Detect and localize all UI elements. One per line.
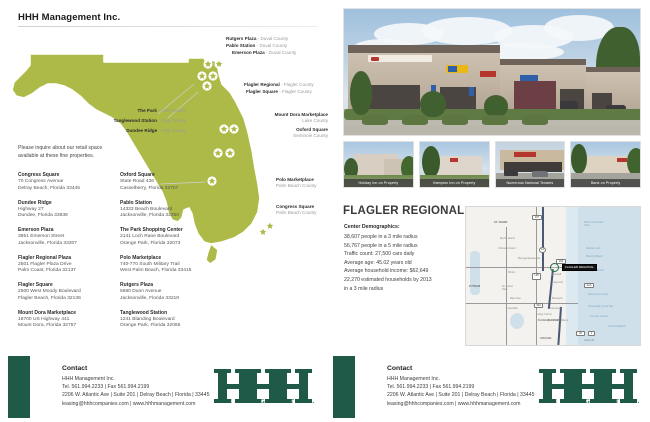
property-address-2: Casselberry, Florida 32707 <box>120 186 318 193</box>
lake-shape <box>510 313 524 329</box>
contact-details: HHH Management Inc. Tel. 561.994.2233 | … <box>387 375 534 408</box>
contact-web[interactable]: leasing@hhhcompanies.com | www.hhhmanage… <box>62 400 209 408</box>
contact-heading: Contact <box>387 365 412 372</box>
green-accent-bar <box>8 356 30 418</box>
pylon-sign <box>469 87 474 96</box>
demographics-heading: Center Demographics: <box>344 224 400 230</box>
logo-wordmark: HHH MANAGEMENT INC. <box>212 398 318 405</box>
map-label-emerson-plaza: Emerson Plaza - Duval County <box>232 50 296 56</box>
shrub <box>420 91 446 117</box>
shrub-front <box>522 115 548 125</box>
locator-map: 207 11 100 A1A I-95 304 40 1 ST. JOHNS P… <box>465 206 641 346</box>
map-label-flagler-square: Flagler Square - Flagler County <box>246 89 312 95</box>
property-list: Congress Square 70 Congress Avenue Delra… <box>18 172 318 337</box>
place-label: Ormond Beach <box>608 325 625 328</box>
palm-tree <box>350 71 372 115</box>
footer: Contact HHH Management Inc. Tel. 561.994… <box>0 352 650 422</box>
property-address-1: 5680 Dunn Avenue <box>120 289 318 296</box>
thumbnail-caption: Holiday Inn on Property <box>344 179 413 187</box>
building-parapet <box>348 45 500 53</box>
feature-title: FLAGLER REGIONAL <box>343 205 464 217</box>
lake-shape <box>470 251 480 295</box>
demographic-line: 22,270 estimated households by 2013 <box>344 276 469 285</box>
place-label: Painters Hill <box>586 247 600 250</box>
property-item: Polo Marketplace 740-770 South Military … <box>120 255 318 275</box>
thumb-tree <box>627 148 641 176</box>
place-label: Claymont <box>552 281 563 284</box>
thumbnail-bank[interactable]: Bank on Property <box>570 141 641 188</box>
tenant-sign-blue-2 <box>520 75 538 81</box>
shrub-front <box>482 115 508 125</box>
property-item: The Park Shopping Center 2141 Loch Rane … <box>120 227 318 247</box>
shrub <box>484 95 508 117</box>
thumbnail-caption: Hampton Inn on Property <box>420 179 489 187</box>
green-accent-bar <box>333 356 355 418</box>
route-shield: 207 <box>532 215 542 220</box>
contact-company: HHH Management Inc. <box>62 375 209 383</box>
property-item: Pablo Station 14333 Beach Boulevard Jack… <box>120 200 318 220</box>
property-item: Oxford Square State Road 436 Casselberry… <box>120 172 318 192</box>
intracoastal <box>566 207 578 346</box>
map-label-mount-dora: Mount Dora MarketplaceLake County <box>256 112 328 124</box>
footer-left: Contact HHH Management Inc. Tel. 561.994… <box>0 352 325 422</box>
contact-phone: Tel. 561.994.2233 | Fax 561.994.2199 <box>62 383 209 391</box>
property-location-marker <box>550 263 559 272</box>
hero-photo-shopping-center <box>343 8 641 136</box>
demographics-list: 38,607 people in a 3 mile radius 56,767 … <box>344 233 469 293</box>
place-label: Favoretta <box>550 307 561 310</box>
demographic-line: 56,767 people in a 5 mile radius <box>344 242 469 251</box>
locator-flag-label: FLAGLER REGIONAL <box>562 264 597 271</box>
property-name: Dundee Ridge <box>18 200 110 207</box>
map-label-oxford-square: Oxford SquareSeminole County <box>256 127 328 139</box>
contact-heading: Contact <box>62 365 87 372</box>
thumb-sign <box>514 152 536 157</box>
property-address-1: 2141 Loch Rane Boulevard <box>120 234 318 241</box>
demographic-line: in a 3 mile radius <box>344 285 469 294</box>
place-label: Tomoka Corner <box>590 315 608 318</box>
place-label: Chimera Island <box>498 247 515 250</box>
property-item: Rutgers Plaza 5680 Dunn Avenue Jacksonvi… <box>120 282 318 302</box>
contact-details: HHH Management Inc. Tel. 561.994.2233 | … <box>62 375 209 408</box>
tenant-sign-logo <box>371 57 379 61</box>
place-label: Beverly Beach <box>586 255 603 258</box>
place-label: Hammock Corner <box>588 293 608 296</box>
logo-wordmark: HHH MANAGEMENT INC. <box>537 398 643 405</box>
contact-address: 2206 W. Atlantic Ave | Suite 201 | Delra… <box>62 391 209 399</box>
property-name: Polo Marketplace <box>120 255 318 262</box>
left-panel: HHH Management Inc. <box>0 0 334 352</box>
property-address-1: 70 Congress Avenue <box>18 179 110 186</box>
contact-company: HHH Management Inc. <box>387 375 534 383</box>
contact-address: 2206 W. Atlantic Ave | Suite 201 | Delra… <box>387 391 534 399</box>
thumb-car <box>532 171 548 177</box>
thumbnail-caption: Bank on Property <box>571 179 640 187</box>
demographic-line: Average age: 45.02 years old <box>344 259 469 268</box>
place-label: Bear Run <box>510 297 521 300</box>
property-address-2: Orange Park, Florida 32065 <box>120 323 318 330</box>
property-address-1: State Road 436 <box>120 179 318 186</box>
property-address-2: Mount Dora, Florida 32757 <box>18 323 110 330</box>
property-address-2: West Palm Beach, Florida 33415 <box>120 268 318 275</box>
property-item: Congress Square 70 Congress Avenue Delra… <box>18 172 110 192</box>
storefront-glass <box>514 81 556 109</box>
route-shield: 304 <box>534 303 543 308</box>
place-label: National Gardens <box>548 319 568 322</box>
property-item: Mount Dora Marketplace 18700 US Highway … <box>18 310 110 330</box>
inquire-text: Please inquire about our retail space av… <box>18 145 158 160</box>
map-label-tanglewood-station: Tanglewood Station - Clay County <box>38 118 186 124</box>
place-label: Oceanside by the Bay <box>588 305 613 308</box>
county-label: ST. JOHNS <box>494 221 507 224</box>
property-item: Tanglewood Station 1241 Blanding Bouleva… <box>120 310 318 330</box>
title-divider <box>18 26 318 27</box>
page-title: HHH Management Inc. <box>18 12 120 23</box>
place-label: Holly Hill <box>584 339 594 342</box>
thumbnail-strip: Holiday Inn on Property Hampton Inn on P… <box>343 141 641 188</box>
thumbnail-national-tenants[interactable]: Numerous National Tenants <box>495 141 566 188</box>
shrub-front <box>402 115 428 125</box>
demographic-line: 38,607 people in a 3 mile radius <box>344 233 469 242</box>
inquire-line-2: available at these fine properties. <box>18 153 158 161</box>
route-shield: I-95 <box>532 273 541 280</box>
property-address-2: Jacksonville, Florida 33207 <box>18 241 110 248</box>
place-label: Codys Corner <box>536 313 552 316</box>
building-parapet <box>586 67 640 72</box>
thumbnail-caption: Numerous National Tenants <box>496 179 565 187</box>
property-item: Flagler Regional Plaza 2501 Flagler Plaz… <box>18 255 110 275</box>
place-label: Myrtle Island <box>500 237 515 240</box>
contact-web[interactable]: leasing@hhhcompanies.com | www.hhhmanage… <box>387 400 534 408</box>
map-label-dundee-ridge: Dundee Ridge - Polk County <box>38 128 186 134</box>
thumbnail-hampton-inn[interactable]: Hampton Inn on Property <box>419 141 490 188</box>
tenant-sign-red <box>480 71 496 77</box>
thumb-tree <box>422 146 440 178</box>
thumb-car <box>504 170 518 176</box>
map-label-pablo-station: Pablo Station - Duval County <box>226 43 287 49</box>
map-label-the-park: The Park - Clay County <box>38 108 186 114</box>
property-address-1: 3851 Emerson Street <box>18 234 110 241</box>
building-parapet <box>500 59 586 65</box>
route-shield: 40 <box>576 331 585 336</box>
map-label-flagler-regional: Flagler Regional - Flagler County <box>244 82 314 88</box>
place-label: Roswell <box>552 273 561 276</box>
property-item: Dundee Ridge Highway 27 Dundee, Florida … <box>18 200 110 220</box>
road-line <box>466 303 578 304</box>
property-item: Flagler Square 2500 West Moody Boulevard… <box>18 282 110 302</box>
contact-phone: Tel. 561.994.2233 | Fax 561.994.2199 <box>387 383 534 391</box>
property-column-2: Oxford Square State Road 436 Casselberry… <box>120 172 318 337</box>
property-address-1: 2500 West Moody Boulevard <box>18 289 110 296</box>
place-label: Bunnerra <box>552 297 563 300</box>
storefront-glass <box>364 85 420 111</box>
property-address-2: Jacksonville, Florida 33218 <box>120 296 318 303</box>
footer-right: Contact HHH Management Inc. Tel. 561.994… <box>325 352 650 422</box>
property-address-2: Delray Beach, Florida 33445 <box>18 186 110 193</box>
property-name: Flagler Regional Plaza <box>18 255 110 262</box>
property-name: Mount Dora Marketplace <box>18 310 110 317</box>
county-label: VOLUSIA <box>540 337 552 340</box>
map-label-rutgers-plaza: Rutgers Plaza - Duval County <box>226 36 288 42</box>
property-address-2: Dundee, Florida 33838 <box>18 213 110 220</box>
shrub-front <box>362 115 388 125</box>
property-name: Congress Square <box>18 172 110 179</box>
thumb-sign <box>617 158 627 162</box>
place-label: Bunnga Esplanada <box>518 257 540 260</box>
route-shield: 11 <box>539 247 546 253</box>
place-label: St. Johns Park <box>502 285 516 291</box>
property-item: Emerson Plaza 3851 Emerson Street Jackso… <box>18 227 110 247</box>
property-address-2: Jacksonville, Florida 32250 <box>120 213 318 220</box>
property-address-2: Orange Park, Florida 32073 <box>120 241 318 248</box>
demographic-line: Traffic count: 27,500 cars daily <box>344 250 469 259</box>
interstate-95 <box>542 207 544 271</box>
brochure-page: HHH Management Inc. <box>0 0 650 422</box>
property-name: Pablo Station <box>120 200 318 207</box>
inquire-line-1: Please inquire about our retail space <box>18 145 158 153</box>
thumbnail-holiday-inn[interactable]: Holiday Inn on Property <box>343 141 414 188</box>
place-label: Palm Coast Park Town <box>584 221 608 227</box>
place-label: Bimini <box>508 271 515 274</box>
property-column-1: Congress Square 70 Congress Avenue Delra… <box>18 172 110 337</box>
property-name: Tanglewood Station <box>120 310 318 317</box>
county-label: PUTNAM <box>469 285 480 288</box>
property-address-2: Palm Coast, Florida 32137 <box>18 268 110 275</box>
tenant-sign-blue <box>448 66 457 72</box>
property-name: Oxford Square <box>120 172 318 179</box>
shrub-front <box>442 115 468 125</box>
place-label: Crescatile <box>506 307 518 310</box>
thumb-sign <box>450 158 458 162</box>
demographic-line: Average household income: $62,649 <box>344 267 469 276</box>
sidewalk <box>344 125 641 136</box>
route-shield: 1 <box>588 331 595 336</box>
route-shield: A1A <box>584 283 594 288</box>
right-panel: Holiday Inn on Property Hampton Inn on P… <box>334 0 650 352</box>
property-address-2: Flagler Beach, Florida 32136 <box>18 296 110 303</box>
